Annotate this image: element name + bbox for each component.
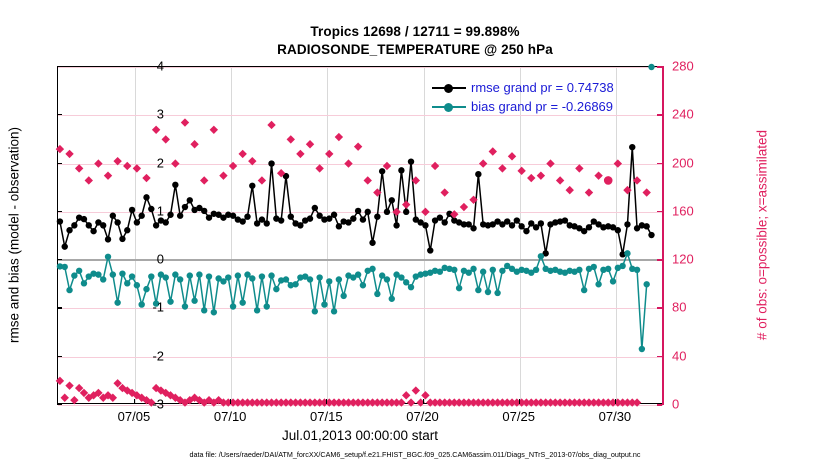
- y-tick-mark-left: [57, 259, 62, 260]
- y-tick-label-left: -2: [104, 348, 164, 363]
- y-tick-mark-left: [57, 211, 62, 212]
- y-tick-label-left: 4: [104, 59, 164, 74]
- chart-title-line1: Tropics 12698 / 12711 = 99.898%: [0, 24, 830, 39]
- y-axis-label-left: rmse and bias (model - observation): [7, 85, 22, 385]
- y-tick-mark-right: [657, 66, 662, 68]
- y-tick-mark-right: [657, 404, 662, 406]
- y-tick-mark-left: [57, 307, 62, 308]
- y-tick-label-right: 200: [672, 155, 722, 170]
- right-axis-spine: [662, 66, 664, 405]
- legend-swatch: [432, 101, 466, 113]
- y-tick-label-right: 160: [672, 203, 722, 218]
- x-tick-mark: [230, 399, 231, 404]
- legend: rmse grand pr = 0.74738bias grand pr = -…: [432, 78, 614, 116]
- y-tick-mark-left: [57, 404, 62, 405]
- y-tick-label-left: 3: [104, 107, 164, 122]
- figure-canvas: Tropics 12698 / 12711 = 99.898% RADIOSON…: [0, 0, 830, 470]
- x-tick-label: 07/30: [599, 409, 632, 424]
- y-tick-mark-right: [657, 211, 662, 213]
- x-tick-label: 07/15: [310, 409, 343, 424]
- legend-entry-1[interactable]: bias grand pr = -0.26869: [432, 97, 614, 116]
- y-tick-mark-right: [657, 163, 662, 165]
- y-tick-label-left: 0: [104, 252, 164, 267]
- data-file-footer: data file: /Users/raeder/DAI/ATM_forcXX/…: [0, 450, 830, 459]
- x-tick-mark: [519, 399, 520, 404]
- y-tick-mark-right: [657, 259, 662, 261]
- y-tick-label-right: 240: [672, 107, 722, 122]
- y-tick-label-right: 280: [672, 59, 722, 74]
- y-tick-mark-right: [657, 356, 662, 358]
- y-tick-label-left: 2: [104, 155, 164, 170]
- legend-label: rmse grand pr = 0.74738: [471, 78, 614, 97]
- y-tick-label-right: 0: [672, 397, 722, 412]
- y-tick-label-right: 80: [672, 300, 722, 315]
- y-tick-mark-left: [57, 114, 62, 115]
- legend-label: bias grand pr = -0.26869: [471, 97, 613, 116]
- y-tick-mark-left: [57, 163, 62, 164]
- y-tick-label-left: 1: [104, 203, 164, 218]
- x-tick-label: 07/10: [214, 409, 247, 424]
- x-tick-label: 07/20: [406, 409, 439, 424]
- x-tick-mark: [615, 399, 616, 404]
- x-tick-mark: [326, 399, 327, 404]
- x-axis-label: Jul.01,2013 00:00:00 start: [57, 428, 663, 443]
- y-tick-mark-right: [657, 307, 662, 309]
- x-tick-label: 07/25: [502, 409, 535, 424]
- chart-title-line2: RADIOSONDE_TEMPERATURE @ 250 hPa: [0, 42, 830, 57]
- y-tick-label-right: 120: [672, 252, 722, 267]
- y-tick-mark-right: [657, 114, 662, 116]
- y-tick-mark-left: [57, 66, 62, 67]
- y-tick-label-right: 40: [672, 348, 722, 363]
- x-tick-mark: [423, 399, 424, 404]
- y-axis-label-right: # of obs: o=possible; x=assimilated: [755, 75, 770, 395]
- y-tick-mark-left: [57, 356, 62, 357]
- y-tick-label-left: -1: [104, 300, 164, 315]
- x-tick-label: 07/05: [118, 409, 151, 424]
- legend-swatch: [432, 82, 466, 94]
- x-tick-mark: [134, 399, 135, 404]
- legend-entry-0[interactable]: rmse grand pr = 0.74738: [432, 78, 614, 97]
